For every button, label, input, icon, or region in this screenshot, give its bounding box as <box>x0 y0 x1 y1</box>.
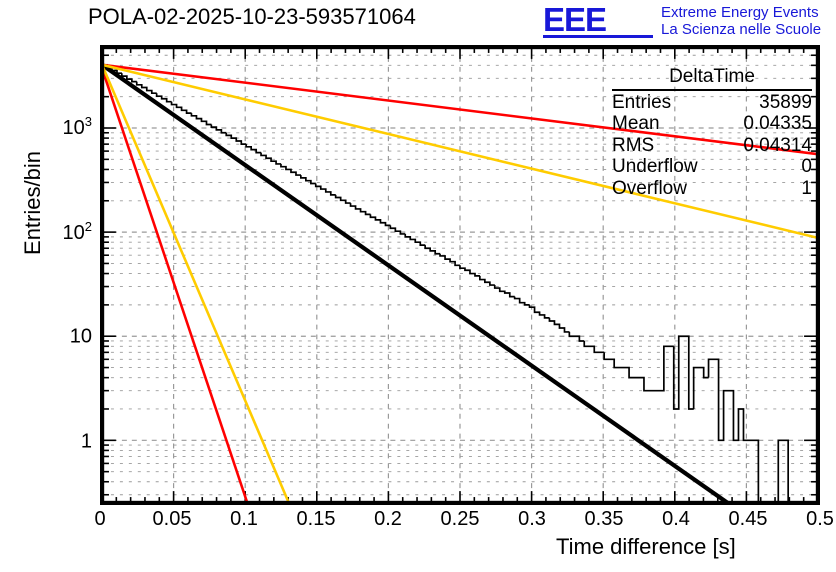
eee-logo-mark: EEE <box>543 3 606 36</box>
x-axis-title: Time difference [s] <box>556 534 736 560</box>
x-tick-label: 0.45 <box>729 508 768 531</box>
stats-key: Underflow <box>612 156 698 178</box>
stats-row: Overflow1 <box>612 178 812 200</box>
x-tick-label: 0.3 <box>518 508 546 531</box>
x-tick-label: 0.25 <box>441 508 480 531</box>
stats-title: DeltaTime <box>612 66 812 89</box>
x-tick-label: 0.2 <box>374 508 402 531</box>
x-tick-label: 0.15 <box>297 508 336 531</box>
stats-divider <box>612 89 812 91</box>
y-tick-label: 103 <box>40 114 92 140</box>
page-title: POLA-02-2025-10-23-593571064 <box>88 4 416 30</box>
stats-value: 0.04335 <box>743 113 812 135</box>
stats-key: Entries <box>612 92 671 114</box>
x-tick-label: 0.1 <box>230 508 258 531</box>
x-tick-label: 0.4 <box>662 508 690 531</box>
stats-key: RMS <box>612 135 654 157</box>
y-tick-label: 102 <box>40 219 92 245</box>
stats-value: 0.04314 <box>743 135 812 157</box>
eee-logo-underline <box>543 35 653 38</box>
stats-value: 0 <box>801 156 812 178</box>
x-tick-label: 0.5 <box>806 508 834 531</box>
x-tick-label: 0 <box>94 508 105 531</box>
y-tick-label: 10 <box>40 325 92 348</box>
stats-value: 1 <box>801 178 812 200</box>
stats-box: DeltaTime Entries35899Mean0.04335RMS0.04… <box>612 66 812 199</box>
eee-logo-line2: La Scienza nelle Scuole <box>661 21 821 38</box>
eee-logo-line1: Extreme Energy Events <box>661 4 819 21</box>
stats-key: Mean <box>612 113 660 135</box>
stats-row: Mean0.04335 <box>612 113 812 135</box>
x-tick-label: 0.05 <box>153 508 192 531</box>
stats-key: Overflow <box>612 178 687 200</box>
x-tick-label: 0.35 <box>585 508 624 531</box>
eee-logo: EEE Extreme Energy Events La Scienza nel… <box>543 2 836 38</box>
stats-row: Underflow0 <box>612 156 812 178</box>
stats-rows: Entries35899Mean0.04335RMS0.04314Underfl… <box>612 92 812 200</box>
y-tick-label: 1 <box>40 430 92 453</box>
stats-row: Entries35899 <box>612 92 812 114</box>
stats-value: 35899 <box>759 92 812 114</box>
stats-row: RMS0.04314 <box>612 135 812 157</box>
